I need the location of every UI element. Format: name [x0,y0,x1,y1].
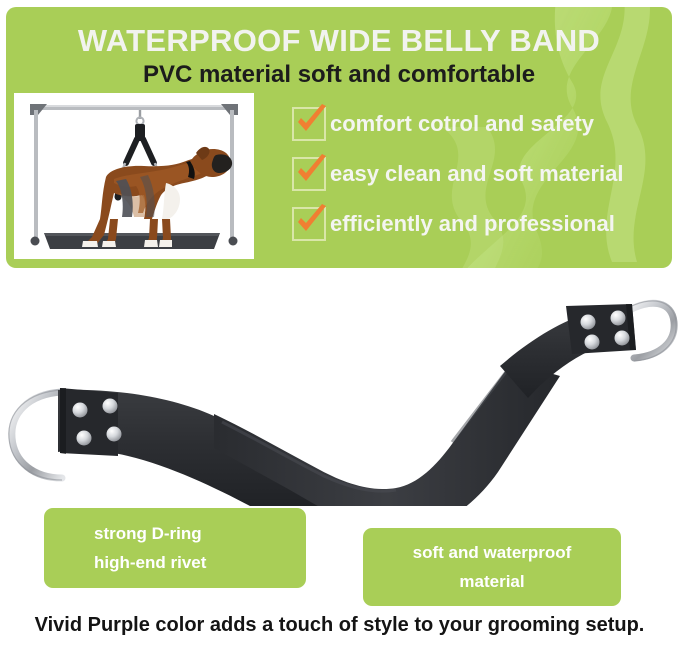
product-image-belly-band [0,266,679,506]
d-ring-left [9,390,62,480]
material-callout: soft and waterproof material [363,528,621,606]
checkbox-checked-icon [292,157,326,191]
rivet-tab-right [566,304,636,354]
infographic-canvas: WATERPROOF WIDE BELLY BAND PVC material … [0,0,679,652]
callout-line: material [459,567,524,596]
checkbox-checked-icon [292,107,326,141]
checkbox-checked-icon [292,207,326,241]
list-item: easy clean and soft material [292,149,672,199]
d-ring-callout: strong D-ring high-end rivet [44,508,306,588]
product-photo [14,93,254,259]
feature-label: comfort cotrol and safety [330,113,594,135]
page-subtitle: PVC material soft and comfortable [6,63,672,87]
page-title: WATERPROOF WIDE BELLY BAND [6,25,672,56]
header-panel: WATERPROOF WIDE BELLY BAND PVC material … [6,7,672,268]
callout-line: soft and waterproof [413,538,572,567]
callout-line: high-end rivet [94,548,206,577]
footer-caption: Vivid Purple color adds a touch of style… [0,615,679,635]
feature-label: easy clean and soft material [330,163,623,185]
feature-list: comfort cotrol and safety easy clean and… [292,99,672,249]
list-item: comfort cotrol and safety [292,99,672,149]
rivet-tab-left [60,388,122,456]
list-item: efficiently and professional [292,199,672,249]
dog-on-grooming-table-image [14,93,254,259]
callout-line: strong D-ring [94,519,202,548]
belly-band-strap-illustration [0,266,679,506]
feature-label: efficiently and professional [330,213,615,235]
